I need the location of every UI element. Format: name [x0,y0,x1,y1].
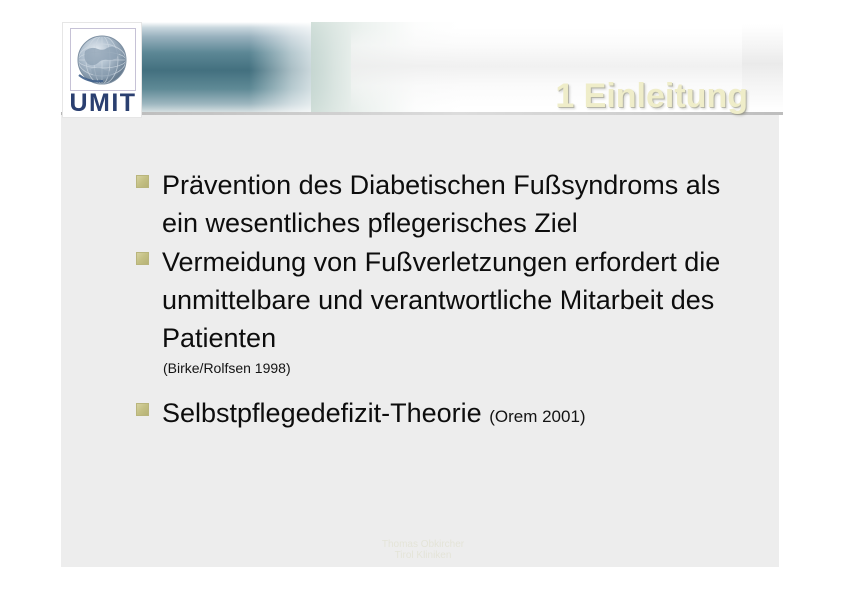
slide-content: Prävention des Diabetischen Fußsyndroms … [136,166,756,436]
list-item: Vermeidung von Fußverletzungen erfordert… [136,243,756,378]
square-bullet-icon [136,403,149,416]
list-item: Prävention des Diabetischen Fußsyndroms … [136,166,756,242]
umit-wordmark: UMIT [63,89,143,117]
square-bullet-icon [136,252,149,265]
list-item-text: Vermeidung von Fußverletzungen erfordert… [162,243,756,378]
globe-icon [70,28,136,91]
list-item-text: Prävention des Diabetischen Fußsyndroms … [162,166,756,242]
list-item-text: Selbstpflegedefizit-Theorie (Orem 2001) [162,394,756,436]
banner-right-highlight [742,24,783,112]
citation: (Orem 2001) [489,407,585,426]
slide-canvas: UMIT 1 Einleitung Prävention des Diabeti… [0,0,842,595]
slide-footer: Thomas Obkircher Tirol Kliniken [343,539,503,561]
footer-line-1: Thomas Obkircher [343,539,503,550]
square-bullet-icon [136,175,149,188]
list-item: Selbstpflegedefizit-Theorie (Orem 2001) [136,394,756,436]
list-item-body: Vermeidung von Fußverletzungen erfordert… [162,247,720,353]
citation: (Birke/Rolfsen 1998) [163,358,756,378]
list-item-body: Selbstpflegedefizit-Theorie [162,398,482,428]
footer-line-2: Tirol Kliniken [343,550,503,561]
umit-logo: UMIT [62,22,142,118]
page-title: 1 Einleitung [380,77,748,115]
